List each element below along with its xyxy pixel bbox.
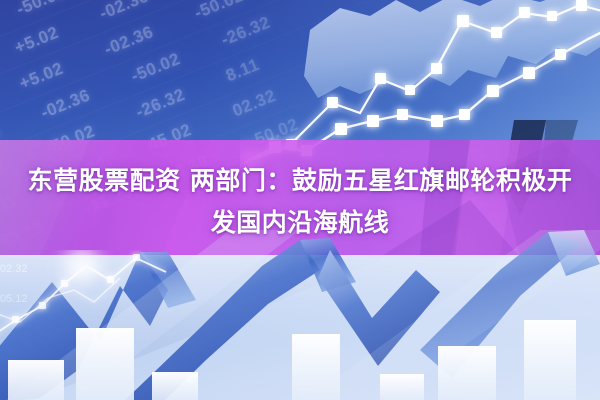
headline-line-2: 发国内沿海航线 [0,202,600,244]
headline-line-1: 东营股票配资 两部门：鼓励五星红旗邮轮积极开 [0,160,600,202]
news-banner-image: -99.02-02.3521.0245.028.11-03.33-11.25-5… [0,0,600,400]
secondary-glow-chart: 02.32 05.12 [0,250,190,360]
glow-chart-label-2: 05.12 [0,293,28,305]
page-title: 东营股票配资 两部门：鼓励五星红旗邮轮积极开 发国内沿海航线 [0,160,600,244]
glow-chart-label-1: 02.32 [0,263,28,275]
